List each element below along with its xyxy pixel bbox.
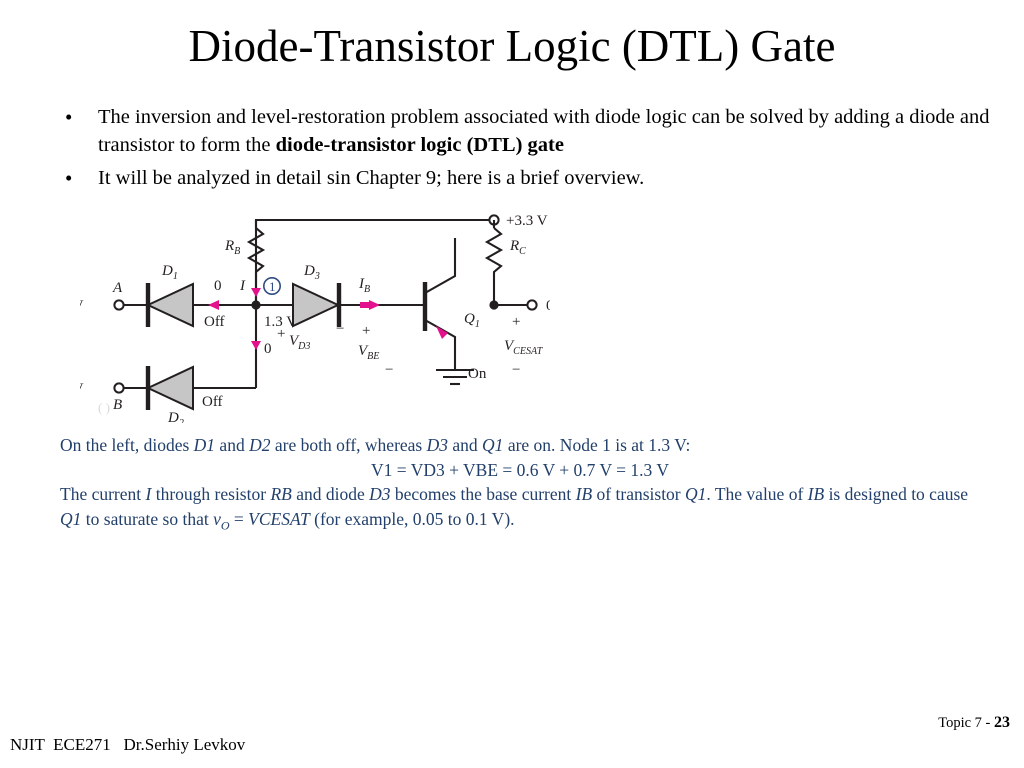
exp-3h: to saturate so that	[81, 509, 213, 529]
resistor-rb-label: RB	[224, 238, 240, 257]
supply-top-label: +3.3 V	[506, 213, 548, 229]
exp-3f: . The value of	[706, 484, 807, 504]
current-ib-arrow-icon	[369, 300, 380, 310]
exp-1a: On the left, diodes	[60, 435, 194, 455]
exp-q1c: Q1	[60, 509, 81, 529]
input-a-label: A	[112, 280, 123, 296]
zero-top-label: 0	[214, 278, 222, 294]
node-1-label: 1	[269, 279, 276, 294]
exp-vo: v	[213, 509, 221, 529]
explanation-block: On the left, diodes D1 and D2 are both o…	[60, 433, 980, 538]
exp-3b: through resistor	[151, 484, 270, 504]
input-b-label: B	[113, 397, 122, 413]
vd3-label: VD3	[289, 333, 310, 352]
transistor-emitter-arrow-icon	[436, 326, 448, 339]
vd3-minus-sign: −	[336, 321, 344, 337]
diode-d2-label: D2	[167, 410, 184, 423]
exp-1b: and	[215, 435, 249, 455]
footer-topic-prefix: Topic 7 -	[938, 715, 994, 731]
vcesat-plus-sign: +	[512, 314, 520, 330]
exp-3i: =	[230, 509, 249, 529]
exp-ib: IB	[576, 484, 593, 504]
bullet-text-1: The inversion and level-restoration prob…	[98, 103, 1000, 159]
transistor-collector-lead	[425, 238, 455, 293]
transistor-q1-label: Q1	[464, 311, 480, 330]
input-a-terminal	[114, 300, 123, 309]
current-ib-arrow-tail	[360, 302, 369, 308]
vcesat-minus-sign: −	[512, 362, 520, 378]
zero-bottom-label: 0	[264, 341, 272, 357]
bullet-text-2: It will be analyzed in detail sin Chapte…	[98, 164, 1000, 192]
exp-q1: Q1	[482, 435, 503, 455]
diode-d1-label: D1	[161, 263, 178, 282]
exp-d1: D1	[194, 435, 215, 455]
supply-b-label: +3.3 V	[80, 381, 84, 397]
exp-ib2: IB	[808, 484, 825, 504]
vd3-plus-sign: +	[277, 326, 285, 342]
exp-3a: The current	[60, 484, 146, 504]
bullet-1-bold: diode-transistor logic (DTL) gate	[276, 134, 564, 156]
exp-3d: becomes the base current	[391, 484, 576, 504]
exp-d3b: D3	[369, 484, 390, 504]
supply-a-label: +3.3 V	[80, 298, 84, 314]
exp-rb: RB	[270, 484, 291, 504]
transistor-collector-to-rc	[455, 253, 494, 276]
explanation-equation: V1 = VD3 + VBE = 0.6 V + 0.7 V = 1.3 V	[60, 458, 980, 483]
explanation-line-1: On the left, diodes D1 and D2 are both o…	[60, 433, 980, 458]
diode-d3-label: D3	[303, 263, 320, 282]
exp-3c: and diode	[292, 484, 369, 504]
exp-3j: (for example, 0.05 to 0.1 V).	[310, 509, 515, 529]
slide-root: Diode-Transistor Logic (DTL) Gate • The …	[0, 0, 1024, 768]
page-title: Diode-Transistor Logic (DTL) Gate	[0, 22, 1024, 72]
vbe-plus-sign: +	[362, 323, 370, 339]
resistor-rc-zigzag	[487, 228, 501, 305]
current-i-label: I	[239, 278, 246, 294]
diode-d2-body	[148, 367, 193, 409]
vcesat-label: VCESAT	[504, 338, 544, 357]
vbe-minus-sign: −	[385, 362, 393, 378]
input-b-terminal	[114, 383, 123, 392]
diode-d2-state-label: Off	[202, 394, 223, 410]
current-zero-arrow-icon	[251, 341, 261, 350]
exp-1d: and	[448, 435, 482, 455]
transistor-state-label: On	[468, 366, 487, 382]
current-ib-label: IB	[358, 276, 370, 295]
exp-d3: D3	[427, 435, 448, 455]
vbe-label: VBE	[358, 343, 379, 362]
exp-q1b: Q1	[685, 484, 706, 504]
exp-vo-sub: O	[221, 518, 230, 532]
footer-course-info: NJIT ECE271 Dr.Serhiy Levkov	[10, 735, 245, 755]
bullet-list: • The inversion and level-restoration pr…	[60, 103, 1000, 197]
exp-d2: D2	[249, 435, 270, 455]
transistor-emitter-lead	[425, 320, 455, 370]
diode-d1-current-arrow-icon	[208, 300, 219, 310]
diode-d1-body	[148, 284, 193, 326]
resistor-rc-label: RC	[509, 238, 526, 257]
footer-topic-info: Topic 7 - 23	[924, 697, 1010, 749]
output-terminal	[527, 300, 536, 309]
diode-d3-body	[293, 284, 338, 326]
current-i-arrow-icon	[251, 288, 261, 297]
bullet-marker-icon: •	[60, 103, 98, 131]
exp-3g: is designed to cause	[824, 484, 968, 504]
output-voltage-label: 0.05 V	[546, 298, 550, 314]
exp-1e: are on. Node 1 is at 1.3 V:	[503, 435, 690, 455]
exp-1c: are both off, whereas	[270, 435, 426, 455]
exp-vcesat: VCESAT	[248, 509, 310, 529]
bullet-marker-icon: •	[60, 164, 98, 192]
explanation-line-3: The current I through resistor RB and di…	[60, 482, 980, 538]
wire-top-rail	[256, 220, 492, 305]
list-item: • The inversion and level-restoration pr…	[60, 103, 1000, 159]
list-item: • It will be analyzed in detail sin Chap…	[60, 164, 1000, 192]
footer-slide-number: 23	[994, 714, 1010, 731]
dtl-circuit-figure: .w { stroke:#231f20; stroke-width:2.1; f…	[80, 198, 550, 423]
scan-artifact: ( )	[98, 400, 110, 416]
exp-3e: of transistor	[592, 484, 685, 504]
diode-d1-state-label: Off	[204, 314, 225, 330]
